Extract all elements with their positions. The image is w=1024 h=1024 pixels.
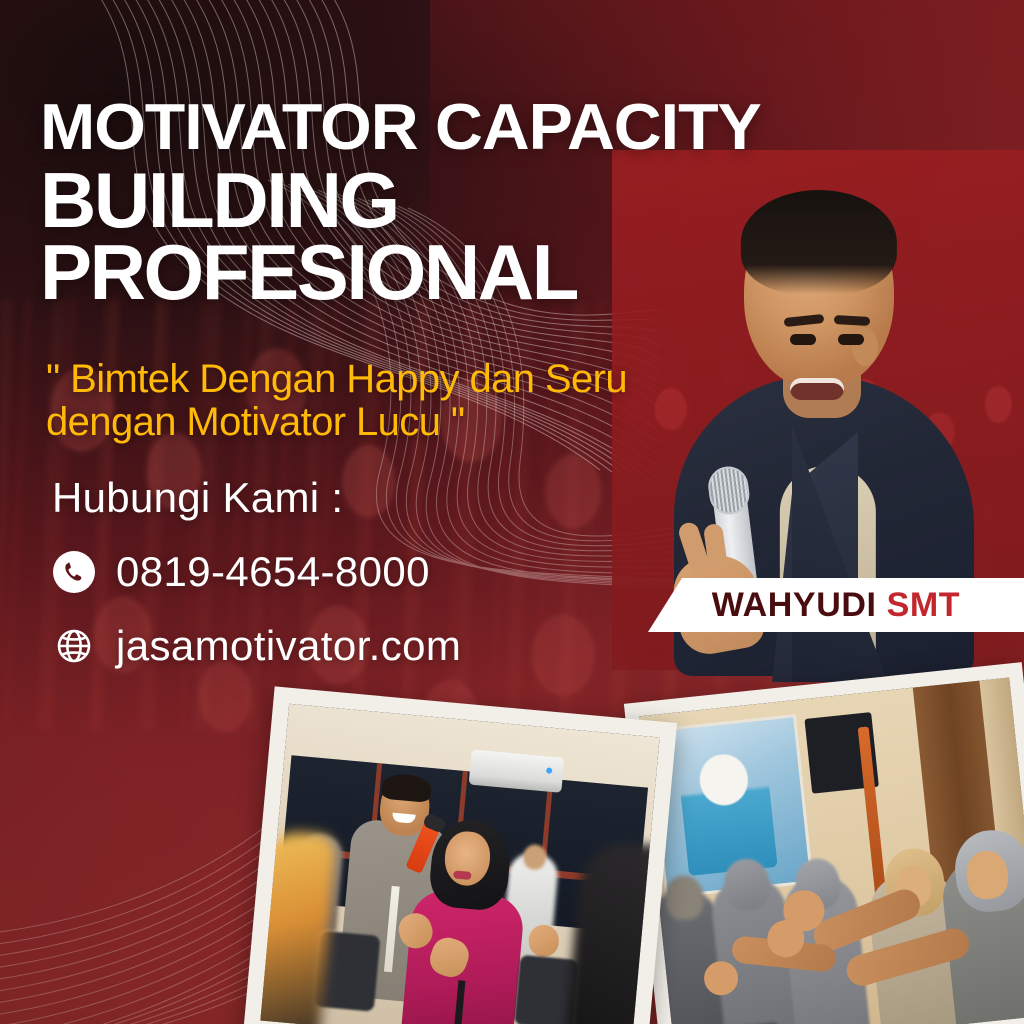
photo-left-ac-indicator-icon <box>546 767 553 774</box>
globe-icon <box>52 624 96 668</box>
speaker-name: WAHYUDI SMT <box>712 586 960 625</box>
speaker-mouth <box>790 378 844 400</box>
speaker-name-title: SMT <box>887 586 961 624</box>
subtitle-tagline: " Bimtek Dengan Happy dan Seru dengan Mo… <box>46 358 726 444</box>
page-title: MOTIVATOR CAPACITY BUILDING PROFESIONAL <box>40 96 870 311</box>
speaker-eye-left <box>790 334 816 345</box>
speaker-name-first: WAHYUDI <box>712 586 877 624</box>
photo-right-image <box>639 677 1024 1024</box>
phone-number: 0819-4654-8000 <box>116 548 430 596</box>
speaker-brow-left <box>784 314 825 327</box>
headline-line-1: MOTIVATOR CAPACITY <box>40 96 887 158</box>
promo-poster: MOTIVATOR CAPACITY BUILDING PROFESIONAL … <box>0 0 1024 1024</box>
contact-website-row[interactable]: jasamotivator.com <box>52 622 461 670</box>
photo-left-woman-inner-top <box>453 981 465 1024</box>
phone-icon <box>52 550 96 594</box>
photo-card-left <box>243 686 677 1024</box>
photo-card-right <box>624 662 1024 1024</box>
contact-phone-row[interactable]: 0819-4654-8000 <box>52 548 430 596</box>
website-url: jasamotivator.com <box>116 622 461 670</box>
headline-line-3: PROFESIONAL <box>40 234 870 311</box>
speaker-eye-right <box>838 334 864 345</box>
status-badge: WAHYUDI SMT <box>648 578 1024 632</box>
photo-left-image <box>260 704 659 1024</box>
photo-right-screen-figure <box>677 749 777 876</box>
speaker-brow-right <box>834 315 870 326</box>
contact-heading: Hubungi Kami : <box>52 474 343 522</box>
